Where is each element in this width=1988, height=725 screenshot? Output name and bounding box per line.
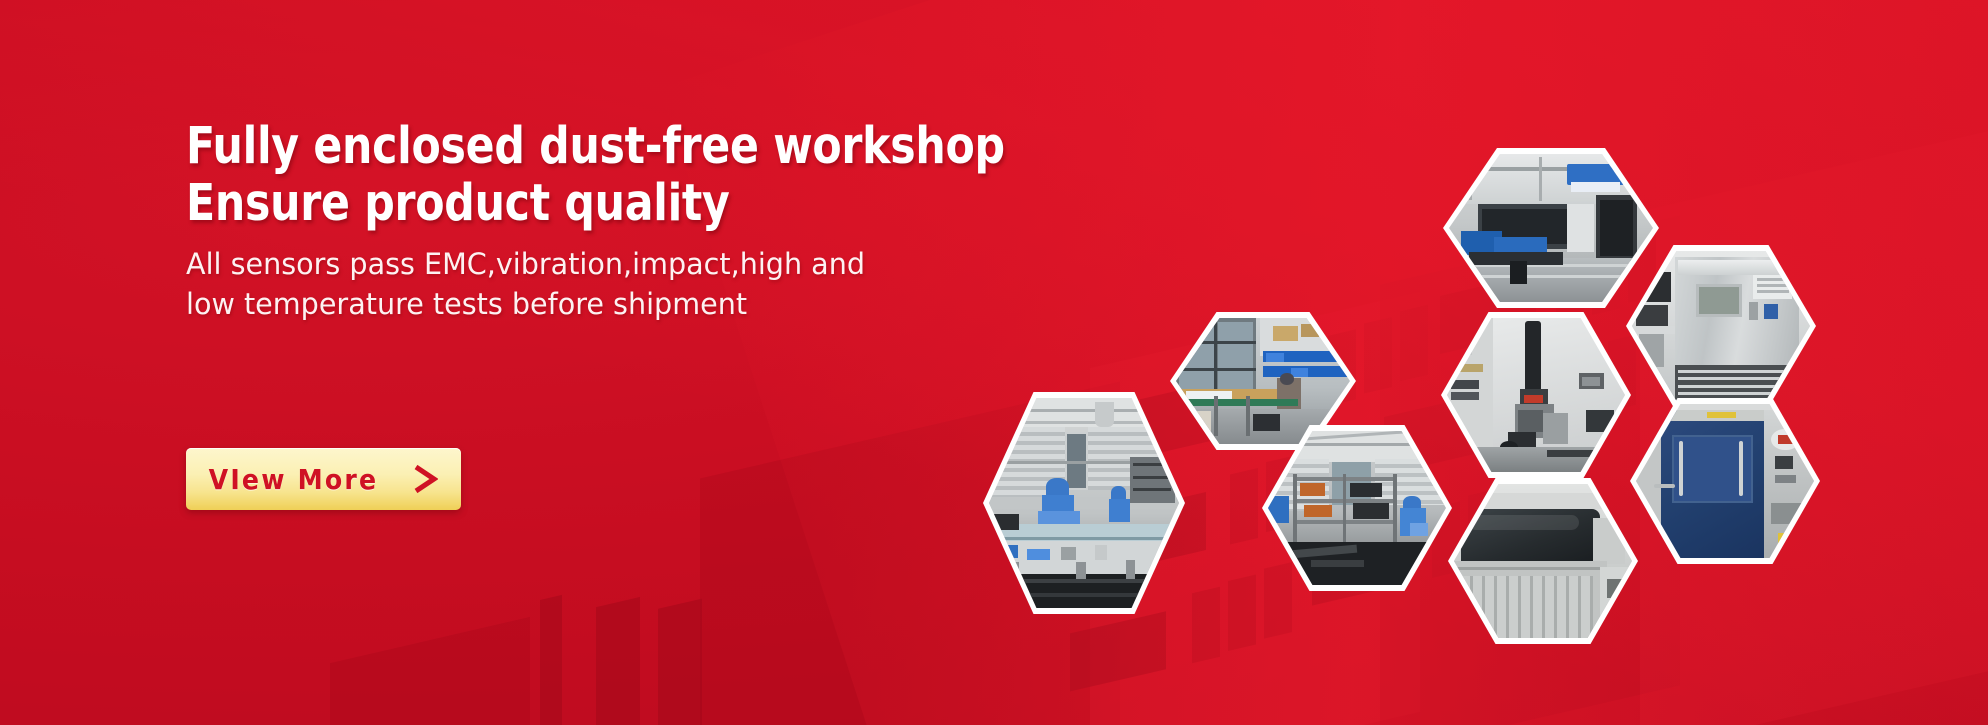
gallery-hex-blue-chamber-image [1636, 404, 1814, 558]
view-more-button[interactable]: VIew More [186, 448, 461, 510]
subheadline-line-2: low temperature tests before shipment [186, 286, 1156, 324]
banner-copy: Fully enclosed dust-free workshop Ensure… [186, 118, 1186, 324]
gallery-hex-tensile-tester-image [1447, 318, 1625, 472]
gallery-hex-metrology-lab-image [1449, 154, 1653, 302]
headline-line-2: Ensure product quality [186, 175, 1116, 232]
headline-line-1: Fully enclosed dust-free workshop [186, 118, 1116, 175]
gallery-hex-cleanroom-bench-image [989, 398, 1179, 608]
view-more-label: VIew More [209, 463, 379, 496]
subheadline-line-1: All sensors pass EMC,vibration,impact,hi… [186, 246, 1156, 284]
gallery-hex-climate-chamber-image [1632, 251, 1810, 401]
promo-banner: Fully enclosed dust-free workshop Ensure… [0, 0, 1988, 725]
chevron-right-icon [412, 464, 438, 494]
gallery-hex-grey-equipment-image [1454, 484, 1632, 638]
gallery-hex-cleanroom-racks-image [1268, 431, 1446, 585]
